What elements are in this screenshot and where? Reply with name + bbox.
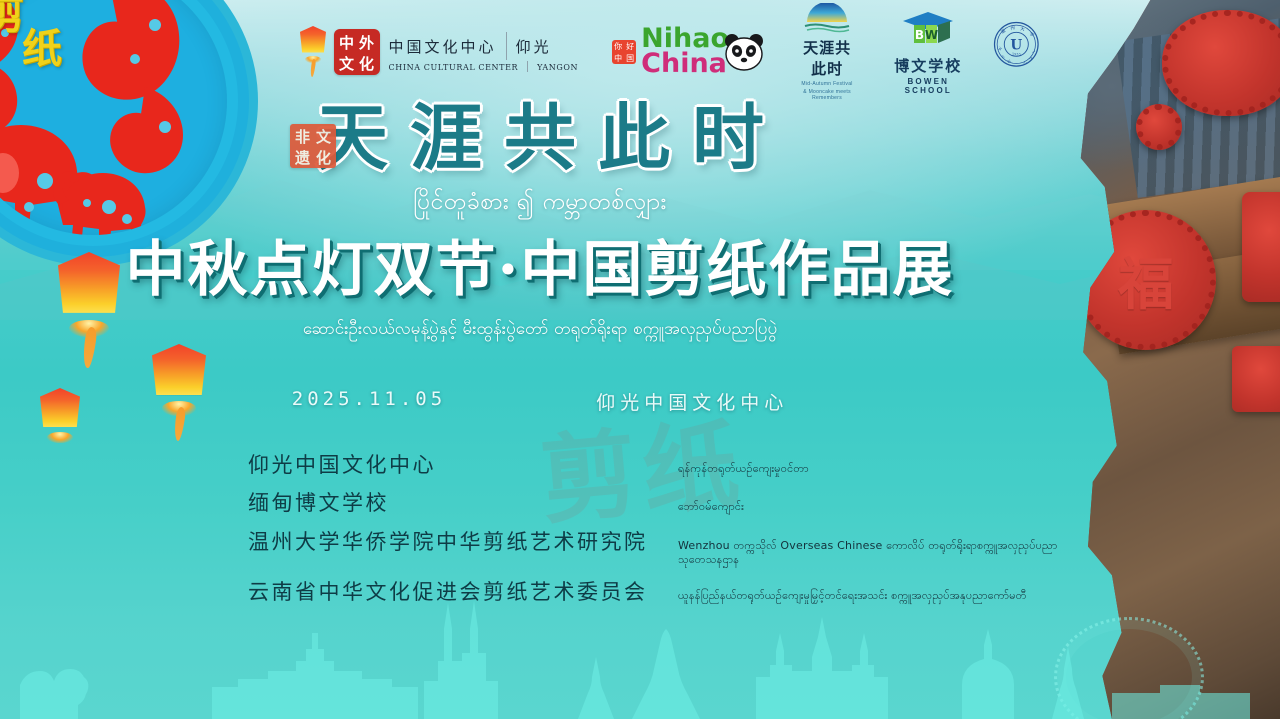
nihao-seal-icon: 你 好 中 国 xyxy=(612,40,636,64)
organizer-row: 仰光中国文化中心 ရန်ကုန်တရုတ်ယဉ်ကျေးမှုဝင်တာ xyxy=(248,452,1068,478)
poster-stage: 剪纸 xyxy=(0,0,1280,719)
papercut-fu-medallion: 福 xyxy=(1076,210,1216,350)
logo-china-cultural-center: 中 外 文 化 中国文化中心 仰光 CHINA CULTURAL CENTER … xyxy=(334,29,579,75)
svg-text:W: W xyxy=(998,46,1003,51)
seal-char-1: 中 xyxy=(339,32,354,53)
papercut-ornament-right-1 xyxy=(1242,192,1280,302)
organizer-my: ဘော်ဝမ်ကျောင်း xyxy=(678,500,1068,514)
nihao-wordmark: Nihao China xyxy=(641,27,729,77)
ccc-en-row: CHINA CULTURAL CENTER YANGON xyxy=(389,60,579,72)
main-title-subtitle-my: ပြိုင်တူခံစား ၍ ကမ္ဘာတစ်လျှား xyxy=(0,187,1080,221)
tianya-cn-name: 天涯共此时 xyxy=(797,37,857,79)
ccc-cn-city: 仰光 xyxy=(516,36,552,57)
intangible-heritage-seal-icon: 非 文 遗 化 xyxy=(290,124,336,168)
panda-icon xyxy=(723,32,765,72)
event-date: 2025.11.05 xyxy=(292,388,446,415)
organizer-cn: 缅甸博文学校 xyxy=(248,490,678,516)
tianya-en-line-1: Mid-Autumn Festival xyxy=(797,81,857,87)
papercut-lace xyxy=(1136,104,1182,150)
logo-wenzhou-university: U 1933 温 州 大 学 W E N U N I xyxy=(993,21,1040,83)
svg-text:1933: 1933 xyxy=(1012,53,1021,57)
bowen-en-name: BOWEN SCHOOL xyxy=(893,77,963,95)
seal-char-1: 你 xyxy=(614,41,622,52)
event-venue: 仰光中国文化中心 xyxy=(596,388,788,415)
seal-char-4: 化 xyxy=(359,53,374,74)
logo-bowen-school: B W 博文学校 BOWEN SCHOOL xyxy=(893,10,963,95)
organizer-row: 缅甸博文学校 ဘော်ဝမ်ကျောင်း xyxy=(248,490,1068,516)
ccc-divider-2 xyxy=(527,61,528,72)
logo-nihao-china: 你 好 中 国 Nihao China xyxy=(612,27,765,77)
seal-char-3: 遗 xyxy=(295,147,310,168)
ccc-cn-row: 中国文化中心 仰光 xyxy=(389,32,579,60)
organizer-cn: 温州大学华侨学院中华剪纸艺术研究院 xyxy=(248,529,678,555)
seal-char-2: 文 xyxy=(316,126,331,147)
event-meta-row: 2025.11.05 仰光中国文化中心 xyxy=(0,388,1080,415)
papercut-flower xyxy=(1136,104,1182,150)
main-title-cn: 天涯共此时 xyxy=(0,98,1080,177)
mini-lantern-icon xyxy=(300,26,320,78)
nihao-line-2: China xyxy=(641,52,729,77)
svg-text:学: 学 xyxy=(1028,30,1036,39)
seal-char-1: 非 xyxy=(295,126,310,147)
svg-text:W: W xyxy=(925,28,938,42)
bowen-cn-name: 博文学校 xyxy=(893,55,963,76)
papercut-ornament-top xyxy=(1162,10,1280,116)
ccc-wordmark: 中国文化中心 仰光 CHINA CULTURAL CENTER YANGON xyxy=(389,32,579,72)
seal-char-3: 文 xyxy=(339,53,354,74)
ccc-cn-name: 中国文化中心 xyxy=(389,36,497,57)
lantern-glow xyxy=(47,432,73,443)
lantern-body xyxy=(300,26,326,53)
seal-char-3: 中 xyxy=(614,53,622,64)
yangon-skyline-silhouette xyxy=(0,589,1280,719)
svg-text:U: U xyxy=(1011,38,1023,54)
sunset-sea-icon xyxy=(803,3,851,35)
organizer-row: 温州大学华侨学院中华剪纸艺术研究院 Wenzhou တက္ကသိုလ် Over… xyxy=(248,529,1068,568)
ccc-en-city: YANGON xyxy=(537,63,578,72)
ccc-seal-icon: 中 外 文 化 xyxy=(334,29,380,75)
seal-char-4: 化 xyxy=(316,147,331,168)
event-headline-cn: 中秋点灯双节·中国剪纸作品展 xyxy=(0,237,1080,304)
svg-text:B: B xyxy=(915,28,924,42)
event-headline-my: ဆောင်းဦးလယ်လမုန့်ပွဲနှင့် မီးထွန်းပွဲတော… xyxy=(0,318,1080,343)
organizer-cn: 仰光中国文化中心 xyxy=(248,452,678,478)
seal-char-4: 国 xyxy=(626,53,634,64)
svg-text:N: N xyxy=(1007,59,1012,64)
organizer-my: Wenzhou တက္ကသိုလ် Overseas Chinese ကောလိ… xyxy=(678,539,1068,568)
seal-char-2: 好 xyxy=(626,41,634,52)
papercut-ornament-right-2 xyxy=(1232,346,1280,412)
title-block: 非 文 遗 化 天涯共此时 ပြိုင်တူခံစား ၍ ကမ္ဘာတစ်လျ… xyxy=(0,98,1080,343)
sponsor-logo-bar: 中 外 文 化 中国文化中心 仰光 CHINA CULTURAL CENTER … xyxy=(300,12,1040,92)
seal-char-2: 外 xyxy=(359,32,374,53)
fu-character: 福 xyxy=(1076,210,1216,350)
organizer-my: ရန်ကုန်တရုတ်ယဉ်ကျေးမှုဝင်တာ xyxy=(678,462,1068,476)
papercut-lace xyxy=(1162,10,1280,116)
graduation-cap-icon: B W xyxy=(893,10,963,53)
ccc-en-name: CHINA CULTURAL CENTER xyxy=(389,63,519,72)
ccc-divider xyxy=(506,32,507,60)
svg-text:E: E xyxy=(1001,54,1006,59)
logo-tianya-gongcishi: 天涯共此时 Mid-Autumn Festival & Mooncake mee… xyxy=(797,3,857,102)
